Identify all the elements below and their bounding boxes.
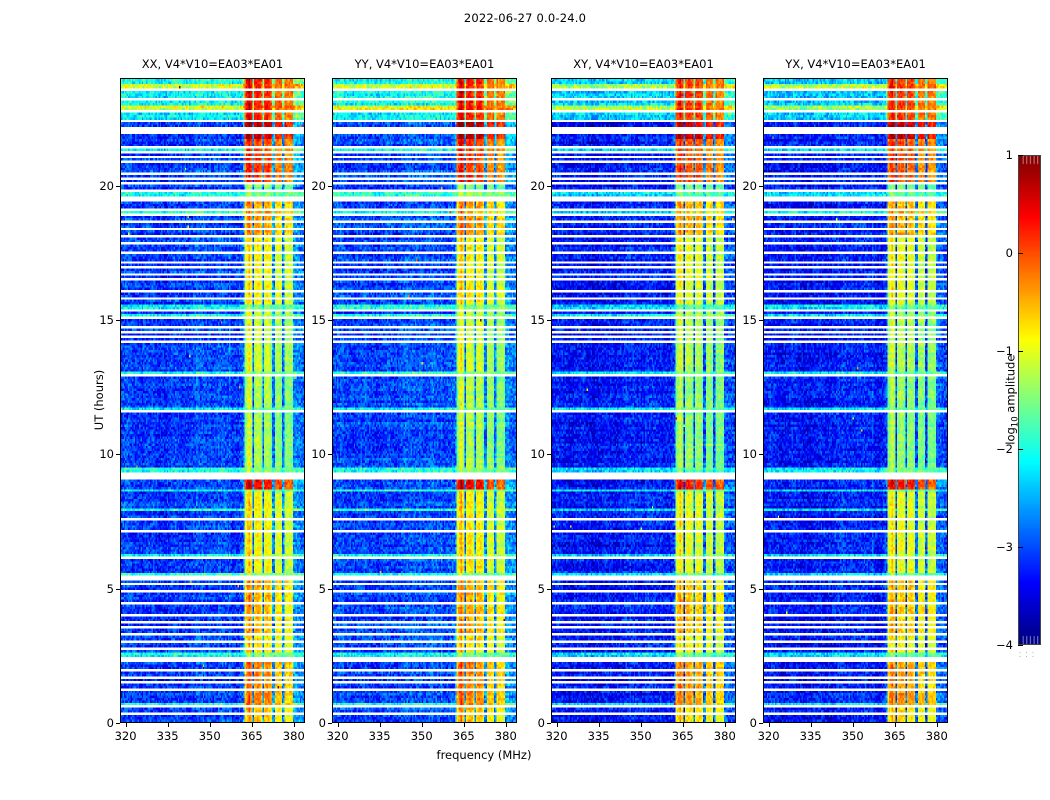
panel-yy: YY, V4*V10=EA03*EA0132033535036538005101… [332,78,517,723]
y-tickmark [116,589,120,590]
panel-title-xy: XY, V4*V10=EA03*EA01 [551,57,736,71]
x-tick-label: 335 [800,729,822,743]
waterfall-pixels [552,79,735,722]
x-tickmark [464,723,465,727]
y-tick-label: 10 [515,447,545,461]
x-tickmark [937,723,938,727]
x-tickmark [853,723,854,727]
colorbar-label-subscript: 10 [1011,416,1021,427]
y-tick-label: 5 [296,582,326,596]
y-tick-label: 20 [296,179,326,193]
x-tickmark [683,723,684,727]
colorbar-tickmark [1018,155,1023,156]
y-tickmark [547,589,551,590]
figure-canvas: 2022-06-27 0.0-24.0 XX, V4*V10=EA03*EA01… [0,0,1050,800]
panel-title-yy: YY, V4*V10=EA03*EA01 [332,57,517,71]
y-tick-label: 0 [515,716,545,730]
x-tick-label: 320 [546,729,568,743]
y-tick-label: 15 [515,313,545,327]
waterfall-pixels [333,79,516,722]
colorbar-under-marker: · · · · · · [1019,651,1040,655]
y-tick-label: 0 [84,716,114,730]
y-tick-label: 20 [515,179,545,193]
y-tickmark [547,186,551,187]
y-tick-label: 15 [84,313,114,327]
y-tick-label: 0 [727,716,757,730]
y-tick-label: 20 [727,179,757,193]
colorbar-pixels [1019,156,1040,644]
y-tickmark [328,320,332,321]
x-tickmark [557,723,558,727]
y-tickmark [328,186,332,187]
y-tick-label: 10 [727,447,757,461]
y-tickmark [328,589,332,590]
x-tick-label: 365 [453,729,475,743]
x-tickmark [294,723,295,727]
y-tickmark [328,454,332,455]
y-tickmark [547,320,551,321]
x-tickmark [380,723,381,727]
x-tick-label: 350 [842,729,864,743]
colorbar-tickmark [1018,253,1023,254]
panel-xy: XY, V4*V10=EA03*EA0132033535036538005101… [551,78,736,723]
panel-title-yx: YX, V4*V10=EA03*EA01 [763,57,948,71]
x-tick-label: 350 [199,729,221,743]
y-tickmark [547,723,551,724]
x-tick-label: 365 [884,729,906,743]
waterfall-image [552,79,735,722]
axes-yx [763,78,948,723]
axes-yy [332,78,517,723]
x-tickmark [422,723,423,727]
waterfall-pixels [764,79,947,722]
colorbar-tick-label: 1 [1006,148,1013,162]
axes-xx [120,78,305,723]
y-tickmark [116,320,120,321]
waterfall-image [764,79,947,722]
y-tickmark [328,723,332,724]
colorbar-label-tail: amplitude [1003,355,1017,417]
y-tickmark [759,186,763,187]
y-tickmark [116,723,120,724]
colorbar-tickmark [1018,547,1023,548]
x-tick-label: 335 [369,729,391,743]
x-tickmark [769,723,770,727]
figure-suptitle: 2022-06-27 0.0-24.0 [0,11,1050,25]
y-tickmark [759,320,763,321]
y-tick-label: 5 [84,582,114,596]
colorbar-tickmark [1018,645,1023,646]
y-tick-label: 5 [727,582,757,596]
colorbar-label-main: log [1003,427,1017,445]
y-tickmark [759,723,763,724]
x-tick-label: 380 [714,729,736,743]
x-tick-label: 380 [495,729,517,743]
panel-xx: XX, V4*V10=EA03*EA0132033535036538005101… [120,78,305,723]
colorbar: 10−1−2−3−4 [1018,155,1041,645]
x-tickmark [168,723,169,727]
colorbar-tick-label: −3 [996,540,1013,554]
x-tick-label: 320 [327,729,349,743]
x-tickmark [725,723,726,727]
y-tick-label: 15 [727,313,757,327]
y-tickmark [759,589,763,590]
x-tick-label: 365 [672,729,694,743]
x-tickmark [210,723,211,727]
y-tick-label: 5 [515,582,545,596]
x-tick-label: 320 [758,729,780,743]
y-tick-label: 0 [296,716,326,730]
y-tick-label: 20 [84,179,114,193]
y-axis-label: UT (hours) [92,345,106,455]
panel-title-xx: XX, V4*V10=EA03*EA01 [120,57,305,71]
colorbar-label: log10 amplitude [1003,340,1020,460]
x-tick-label: 335 [588,729,610,743]
x-tickmark [641,723,642,727]
waterfall-image [121,79,304,722]
x-tick-label: 380 [926,729,948,743]
waterfall-pixels [121,79,304,722]
x-tickmark [811,723,812,727]
x-tick-label: 365 [241,729,263,743]
y-tickmark [759,454,763,455]
x-tickmark [599,723,600,727]
y-tickmark [547,454,551,455]
axes-xy [551,78,736,723]
colorbar-gradient [1018,155,1041,645]
x-tickmark [895,723,896,727]
x-tickmark [506,723,507,727]
y-tickmark [116,454,120,455]
x-tick-label: 335 [157,729,179,743]
y-tick-label: 10 [296,447,326,461]
colorbar-tick-label: −4 [996,638,1013,652]
y-tick-label: 15 [296,313,326,327]
x-tick-label: 350 [411,729,433,743]
waterfall-image [333,79,516,722]
x-tickmark [126,723,127,727]
x-axis-label: frequency (MHz) [0,748,1009,762]
x-tickmark [252,723,253,727]
y-tickmark [116,186,120,187]
x-tickmark [338,723,339,727]
x-tick-label: 320 [115,729,137,743]
panel-yx: YX, V4*V10=EA03*EA0132033535036538005101… [763,78,948,723]
x-tick-label: 380 [283,729,305,743]
colorbar-tick-label: 0 [1006,246,1013,260]
x-tick-label: 350 [630,729,652,743]
